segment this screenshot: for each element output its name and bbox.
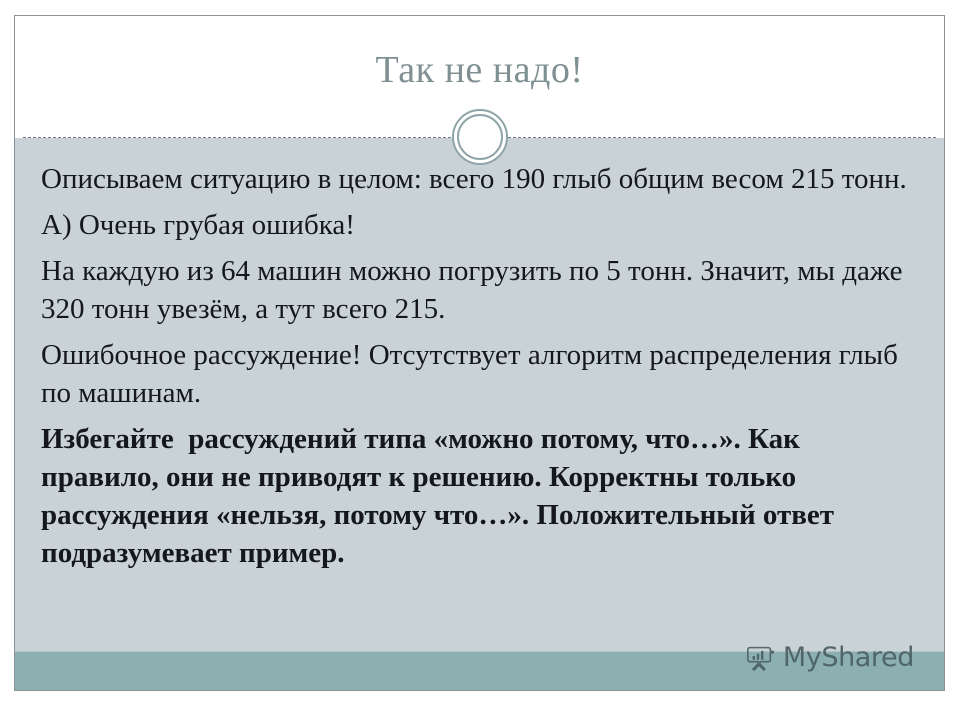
slide-body: Описываем ситуацию в целом: всего 190 гл… [15, 138, 944, 690]
paragraph-critique: Ошибочное рассуждение! Отсутствует алгор… [41, 336, 920, 412]
presentation-chart-icon [746, 642, 776, 672]
paragraph-intro: Описываем ситуацию в целом: всего 190 гл… [41, 160, 920, 198]
presentation-slide: Так не надо! Описываем ситуацию в целом:… [14, 15, 945, 691]
paragraph-calculation: На каждую из 64 машин можно погрузить по… [41, 252, 920, 328]
double-ring-circle-icon [452, 109, 508, 165]
page-title: Так не надо! [15, 48, 944, 92]
slide-content: Описываем ситуацию в целом: всего 190 гл… [41, 160, 920, 580]
myshared-watermark-label: MyShared [783, 644, 914, 671]
paragraph-advice: Избегайте рассуждений типа «можно потому… [41, 420, 920, 572]
myshared-watermark: MyShared [746, 642, 914, 672]
paragraph-answer-a: А) Очень грубая ошибка! [41, 206, 920, 244]
